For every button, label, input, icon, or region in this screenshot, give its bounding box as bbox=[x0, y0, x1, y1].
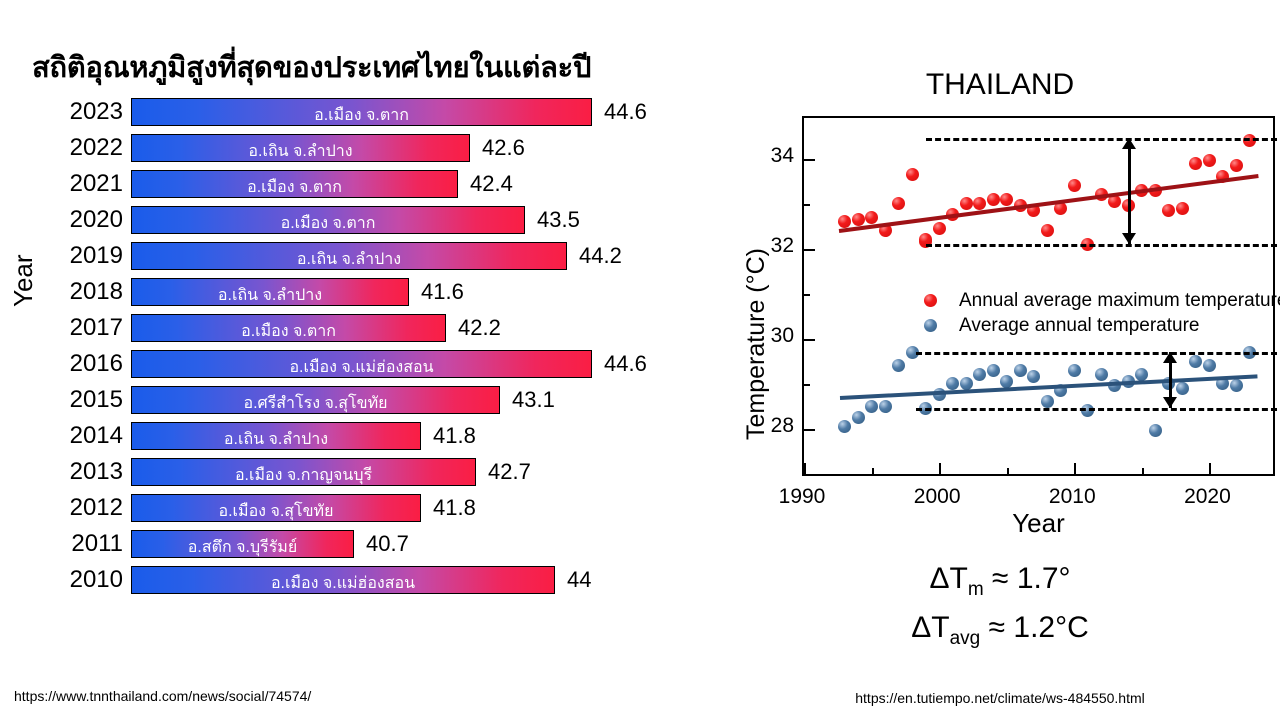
bar-rows-container: 2023อ.เมือง จ.ตาก44.62022อ.เถิน จ.ลำปาง4… bbox=[0, 96, 720, 600]
bar-row: 2021อ.เมือง จ.ตาก42.4 bbox=[0, 168, 720, 204]
scatter-point bbox=[1027, 370, 1040, 383]
bar-track: อ.เมือง จ.ตาก44.6 bbox=[131, 96, 720, 132]
scatter-point bbox=[892, 359, 905, 372]
scatter-point bbox=[852, 213, 865, 226]
bar-row: 2016อ.เมือง จ.แม่ฮ่องสอน44.6 bbox=[0, 348, 720, 384]
bar-row-year-label: 2012 bbox=[9, 493, 131, 523]
bar-inner-label: อ.เมือง จ.แม่ฮ่องสอน bbox=[132, 569, 554, 597]
bar-row-year-label: 2019 bbox=[9, 241, 131, 271]
legend-item[interactable]: Average annual temperature bbox=[924, 313, 1280, 338]
bar-fill[interactable]: อ.เมือง จ.ตาก bbox=[131, 170, 458, 198]
x-axis-tick-label: 1990 bbox=[767, 485, 837, 509]
bar-row: 2020อ.เมือง จ.ตาก43.5 bbox=[0, 204, 720, 240]
arrowhead-up-icon bbox=[1122, 138, 1136, 149]
bar-row-year: 2010 bbox=[0, 565, 131, 595]
scatter-point bbox=[1000, 375, 1013, 388]
scatter-title: THAILAND bbox=[720, 68, 1280, 102]
x-axis-tick-label: 2010 bbox=[1037, 485, 1107, 509]
y-axis-minor-tick bbox=[804, 294, 810, 296]
scatter-point bbox=[1068, 179, 1081, 192]
bar-fill[interactable]: อ.ศรีสำโรง จ.สุโขทัย bbox=[131, 386, 500, 414]
bar-value-label: 44.2 bbox=[579, 243, 622, 269]
bar-inner-label: อ.เมือง จ.แม่ฮ่องสอน bbox=[132, 353, 591, 381]
scatter-legend: Annual average maximum temperatureAverag… bbox=[924, 288, 1280, 338]
scatter-point bbox=[1176, 202, 1189, 215]
scatter-point bbox=[933, 222, 946, 235]
scatter-point bbox=[865, 211, 878, 224]
bar-row: 2013อ.เมือง จ.กาญจนบุรี42.7 bbox=[0, 456, 720, 492]
bar-row-year-label: 2021 bbox=[9, 169, 131, 199]
bar-fill[interactable]: อ.เมือง จ.แม่ฮ่องสอน bbox=[131, 350, 592, 378]
legend-item[interactable]: Annual average maximum temperature bbox=[924, 288, 1280, 313]
bar-inner-label: อ.เมือง จ.ตาก bbox=[132, 209, 524, 237]
scatter-point bbox=[906, 168, 919, 181]
y-axis-tick bbox=[804, 429, 815, 431]
reference-dashed-line bbox=[926, 244, 1277, 247]
bar-value-label: 41.8 bbox=[433, 423, 476, 449]
bar-track: อ.เมือง จ.กาญจนบุรี42.7 bbox=[131, 456, 720, 492]
scatter-point bbox=[838, 420, 851, 433]
bar-value-label: 42.7 bbox=[488, 459, 531, 485]
bar-value-label: 42.6 bbox=[482, 135, 525, 161]
bar-inner-label: อ.เมือง จ.ตาก bbox=[132, 317, 445, 345]
scatter-point bbox=[1162, 204, 1175, 217]
bar-fill[interactable]: อ.เมือง จ.สุโขทัย bbox=[131, 494, 421, 522]
reference-dashed-line bbox=[916, 408, 1277, 411]
scatter-point bbox=[1041, 395, 1054, 408]
bar-row-year: 2023 bbox=[0, 97, 131, 127]
bar-track: อ.เมือง จ.ตาก43.5 bbox=[131, 204, 720, 240]
bar-row: 2017อ.เมือง จ.ตาก42.2 bbox=[0, 312, 720, 348]
y-axis-tick-label: 32 bbox=[734, 234, 794, 258]
scatter-point bbox=[892, 197, 905, 210]
scatter-point bbox=[973, 368, 986, 381]
scatter-point bbox=[1095, 368, 1108, 381]
bar-row-year: 2020 bbox=[0, 205, 131, 235]
bar-inner-label: อ.เมือง จ.สุโขทัย bbox=[132, 497, 420, 525]
bar-row-year: 2011 bbox=[0, 529, 131, 559]
bar-track: อ.เมือง จ.แม่ฮ่องสอน44 bbox=[131, 564, 720, 600]
y-axis-tick-label: 28 bbox=[734, 414, 794, 438]
x-axis-minor-tick bbox=[1142, 468, 1144, 474]
arrowhead-down-icon bbox=[1163, 397, 1177, 408]
bar-row: 2012อ.เมือง จ.สุโขทัย41.8 bbox=[0, 492, 720, 528]
y-axis-minor-tick bbox=[804, 384, 810, 386]
y-axis-tick bbox=[804, 159, 815, 161]
bar-row-year: 2014 bbox=[0, 421, 131, 451]
bar-row-year-label: 2014 bbox=[9, 421, 131, 451]
scatter-point bbox=[1203, 359, 1216, 372]
bar-row-year-label: 2018 bbox=[9, 277, 131, 307]
scatter-point bbox=[838, 215, 851, 228]
arrowhead-down-icon bbox=[1122, 233, 1136, 244]
scatter-point bbox=[1149, 424, 1162, 437]
scatter-point bbox=[1068, 364, 1081, 377]
bar-row-year-label: 2022 bbox=[9, 133, 131, 163]
bar-row-year-label: 2010 bbox=[9, 565, 131, 595]
scatter-point bbox=[1203, 154, 1216, 167]
bar-row-year: 2015 bbox=[0, 385, 131, 415]
bar-inner-label: อ.ศรีสำโรง จ.สุโขทัย bbox=[132, 389, 499, 417]
legend-item-label: Average annual temperature bbox=[959, 315, 1199, 337]
scatter-point bbox=[1014, 364, 1027, 377]
scatter-point bbox=[1000, 193, 1013, 206]
bar-fill[interactable]: อ.เมือง จ.ตาก bbox=[131, 206, 525, 234]
reference-dashed-line bbox=[926, 138, 1277, 141]
bar-value-label: 41.8 bbox=[433, 495, 476, 521]
bar-value-label: 43.1 bbox=[512, 387, 555, 413]
bar-row-year-label: 2016 bbox=[9, 349, 131, 379]
bar-row-year-label: 2011 bbox=[9, 529, 131, 559]
bar-row-year: 2018 bbox=[0, 277, 131, 307]
delta-avg-line: ΔTavg ≈ 1.2°C bbox=[720, 609, 1280, 658]
scatter-point bbox=[1135, 368, 1148, 381]
bar-value-label: 40.7 bbox=[366, 531, 409, 557]
bar-track: อ.สตึก จ.บุรีรัมย์40.7 bbox=[131, 528, 720, 564]
bar-value-label: 44.6 bbox=[604, 99, 647, 125]
scatter-point bbox=[865, 400, 878, 413]
x-axis-tick-label: 2020 bbox=[1172, 485, 1242, 509]
x-axis-tick-label: 2000 bbox=[902, 485, 972, 509]
bar-fill[interactable]: อ.เถิน จ.ลำปาง bbox=[131, 134, 470, 162]
bar-row-year: 2012 bbox=[0, 493, 131, 523]
bar-row-year-label: 2020 bbox=[9, 205, 131, 235]
scatter-point bbox=[987, 364, 1000, 377]
bar-fill[interactable]: อ.เมือง จ.กาญจนบุรี bbox=[131, 458, 476, 486]
scatter-point bbox=[1230, 379, 1243, 392]
bar-value-label: 44.6 bbox=[604, 351, 647, 377]
bar-inner-label: อ.เถิน จ.ลำปาง bbox=[132, 425, 420, 453]
scatter-point bbox=[1230, 159, 1243, 172]
x-axis-minor-tick bbox=[1007, 468, 1009, 474]
bar-inner-label: อ.เมือง จ.ตาก bbox=[132, 173, 457, 201]
delta-annotations: ΔTm ≈ 1.7° ΔTavg ≈ 1.2°C bbox=[720, 560, 1280, 658]
bar-inner-label: อ.เมือง จ.ตาก bbox=[132, 101, 591, 129]
bar-track: อ.เมือง จ.ตาก42.4 bbox=[131, 168, 720, 204]
bar-fill[interactable]: อ.เถิน จ.ลำปาง bbox=[131, 242, 567, 270]
page-title: สถิติอุณหภูมิสูงที่สุดของประเทศไทยในแต่ล… bbox=[32, 44, 591, 90]
bar-fill[interactable]: อ.เถิน จ.ลำปาง bbox=[131, 422, 421, 450]
bar-track: อ.เถิน จ.ลำปาง41.8 bbox=[131, 420, 720, 456]
scatter-point bbox=[987, 193, 1000, 206]
bar-row-year-label: 2013 bbox=[9, 457, 131, 487]
scatter-point bbox=[1189, 157, 1202, 170]
bar-track: อ.เมือง จ.สุโขทัย41.8 bbox=[131, 492, 720, 528]
bar-row: 2018อ.เถิน จ.ลำปาง41.6 bbox=[0, 276, 720, 312]
x-axis-tick bbox=[1209, 463, 1211, 474]
scatter-point bbox=[852, 411, 865, 424]
bar-row-year: 2017 bbox=[0, 313, 131, 343]
bar-row: 2014อ.เถิน จ.ลำปาง41.8 bbox=[0, 420, 720, 456]
bar-fill[interactable]: อ.สตึก จ.บุรีรัมย์ bbox=[131, 530, 354, 558]
y-axis-tick-label: 30 bbox=[734, 324, 794, 348]
source-link-left[interactable]: https://www.tnnthailand.com/news/social/… bbox=[14, 688, 311, 704]
bar-row: 2015อ.ศรีสำโรง จ.สุโขทัย43.1 bbox=[0, 384, 720, 420]
x-axis-tick bbox=[1074, 463, 1076, 474]
bar-row: 2019อ.เถิน จ.ลำปาง44.2 bbox=[0, 240, 720, 276]
bar-row: 2010อ.เมือง จ.แม่ฮ่องสอน44 bbox=[0, 564, 720, 600]
bar-row-year: 2019 bbox=[0, 241, 131, 271]
bar-inner-label: อ.เถิน จ.ลำปาง bbox=[132, 245, 566, 273]
delta-double-arrow bbox=[1128, 138, 1131, 244]
bar-track: อ.เมือง จ.ตาก42.2 bbox=[131, 312, 720, 348]
scatter-point bbox=[1176, 382, 1189, 395]
delta-max-subscript: m bbox=[968, 579, 984, 600]
bar-inner-label: อ.เถิน จ.ลำปาง bbox=[132, 137, 469, 165]
bar-track: อ.เมือง จ.แม่ฮ่องสอน44.6 bbox=[131, 348, 720, 384]
bar-row-year: 2016 bbox=[0, 349, 131, 379]
bar-track: อ.เถิน จ.ลำปาง41.6 bbox=[131, 276, 720, 312]
bar-chart-panel: สถิติอุณหภูมิสูงที่สุดของประเทศไทยในแต่ล… bbox=[0, 0, 720, 720]
scatter-point bbox=[879, 400, 892, 413]
delta-avg-prefix: ΔT bbox=[911, 611, 949, 644]
slide-canvas: สถิติอุณหภูมิสูงที่สุดของประเทศไทยในแต่ล… bbox=[0, 0, 1280, 720]
scatter-plot-area: Annual average maximum temperatureAverag… bbox=[802, 116, 1275, 476]
y-axis-tick-label: 34 bbox=[734, 144, 794, 168]
bar-value-label: 43.5 bbox=[537, 207, 580, 233]
bar-inner-label: อ.สตึก จ.บุรีรัมย์ bbox=[132, 533, 353, 561]
bar-row: 2011อ.สตึก จ.บุรีรัมย์40.7 bbox=[0, 528, 720, 564]
bar-fill[interactable]: อ.เมือง จ.ตาก bbox=[131, 98, 592, 126]
bar-inner-label: อ.เมือง จ.กาญจนบุรี bbox=[132, 461, 475, 489]
bar-value-label: 44 bbox=[567, 567, 591, 593]
bar-row-year-label: 2015 bbox=[9, 385, 131, 415]
arrowhead-up-icon bbox=[1163, 352, 1177, 363]
x-axis-tick bbox=[939, 463, 941, 474]
reference-dashed-line bbox=[916, 352, 1277, 355]
bar-fill[interactable]: อ.เมือง จ.แม่ฮ่องสอน bbox=[131, 566, 555, 594]
bar-row-year: 2013 bbox=[0, 457, 131, 487]
scatter-x-axis-label: Year bbox=[802, 508, 1275, 539]
scatter-point bbox=[946, 377, 959, 390]
delta-avg-value: ≈ 1.2°C bbox=[989, 611, 1089, 644]
bar-track: อ.เถิน จ.ลำปาง42.6 bbox=[131, 132, 720, 168]
source-link-right[interactable]: https://en.tutiempo.net/climate/ws-48455… bbox=[720, 690, 1280, 706]
bar-track: อ.ศรีสำโรง จ.สุโขทัย43.1 bbox=[131, 384, 720, 420]
bar-track: อ.เถิน จ.ลำปาง44.2 bbox=[131, 240, 720, 276]
scatter-point bbox=[973, 197, 986, 210]
x-axis-minor-tick bbox=[872, 468, 874, 474]
delta-avg-subscript: avg bbox=[950, 628, 981, 649]
bar-row: 2023อ.เมือง จ.ตาก44.6 bbox=[0, 96, 720, 132]
legend-item-label: Annual average maximum temperature bbox=[959, 290, 1280, 312]
bar-value-label: 42.2 bbox=[458, 315, 501, 341]
bar-fill[interactable]: อ.เถิน จ.ลำปาง bbox=[131, 278, 409, 306]
bar-inner-label: อ.เถิน จ.ลำปาง bbox=[132, 281, 408, 309]
bar-value-label: 42.4 bbox=[470, 171, 513, 197]
delta-max-value: ≈ 1.7° bbox=[992, 562, 1071, 595]
y-axis-minor-tick bbox=[804, 204, 810, 206]
bar-value-label: 41.6 bbox=[421, 279, 464, 305]
scatter-point bbox=[1041, 224, 1054, 237]
bar-row-year-label: 2017 bbox=[9, 313, 131, 343]
blue-circle-marker-icon bbox=[924, 319, 937, 332]
scatter-point bbox=[960, 197, 973, 210]
y-axis-tick bbox=[804, 339, 815, 341]
scatter-chart-panel: THAILAND Temperature (°C) Annual average… bbox=[720, 0, 1280, 720]
bar-row-year: 2021 bbox=[0, 169, 131, 199]
red-circle-marker-icon bbox=[924, 294, 937, 307]
scatter-point bbox=[1189, 355, 1202, 368]
delta-max-prefix: ΔT bbox=[929, 562, 967, 595]
bar-row-year: 2022 bbox=[0, 133, 131, 163]
bar-fill[interactable]: อ.เมือง จ.ตาก bbox=[131, 314, 446, 342]
x-axis-tick bbox=[804, 463, 806, 474]
bar-row-year-label: 2023 bbox=[9, 97, 131, 127]
delta-max-line: ΔTm ≈ 1.7° bbox=[720, 560, 1280, 609]
bar-row: 2022อ.เถิน จ.ลำปาง42.6 bbox=[0, 132, 720, 168]
scatter-point bbox=[960, 377, 973, 390]
y-axis-tick bbox=[804, 249, 815, 251]
